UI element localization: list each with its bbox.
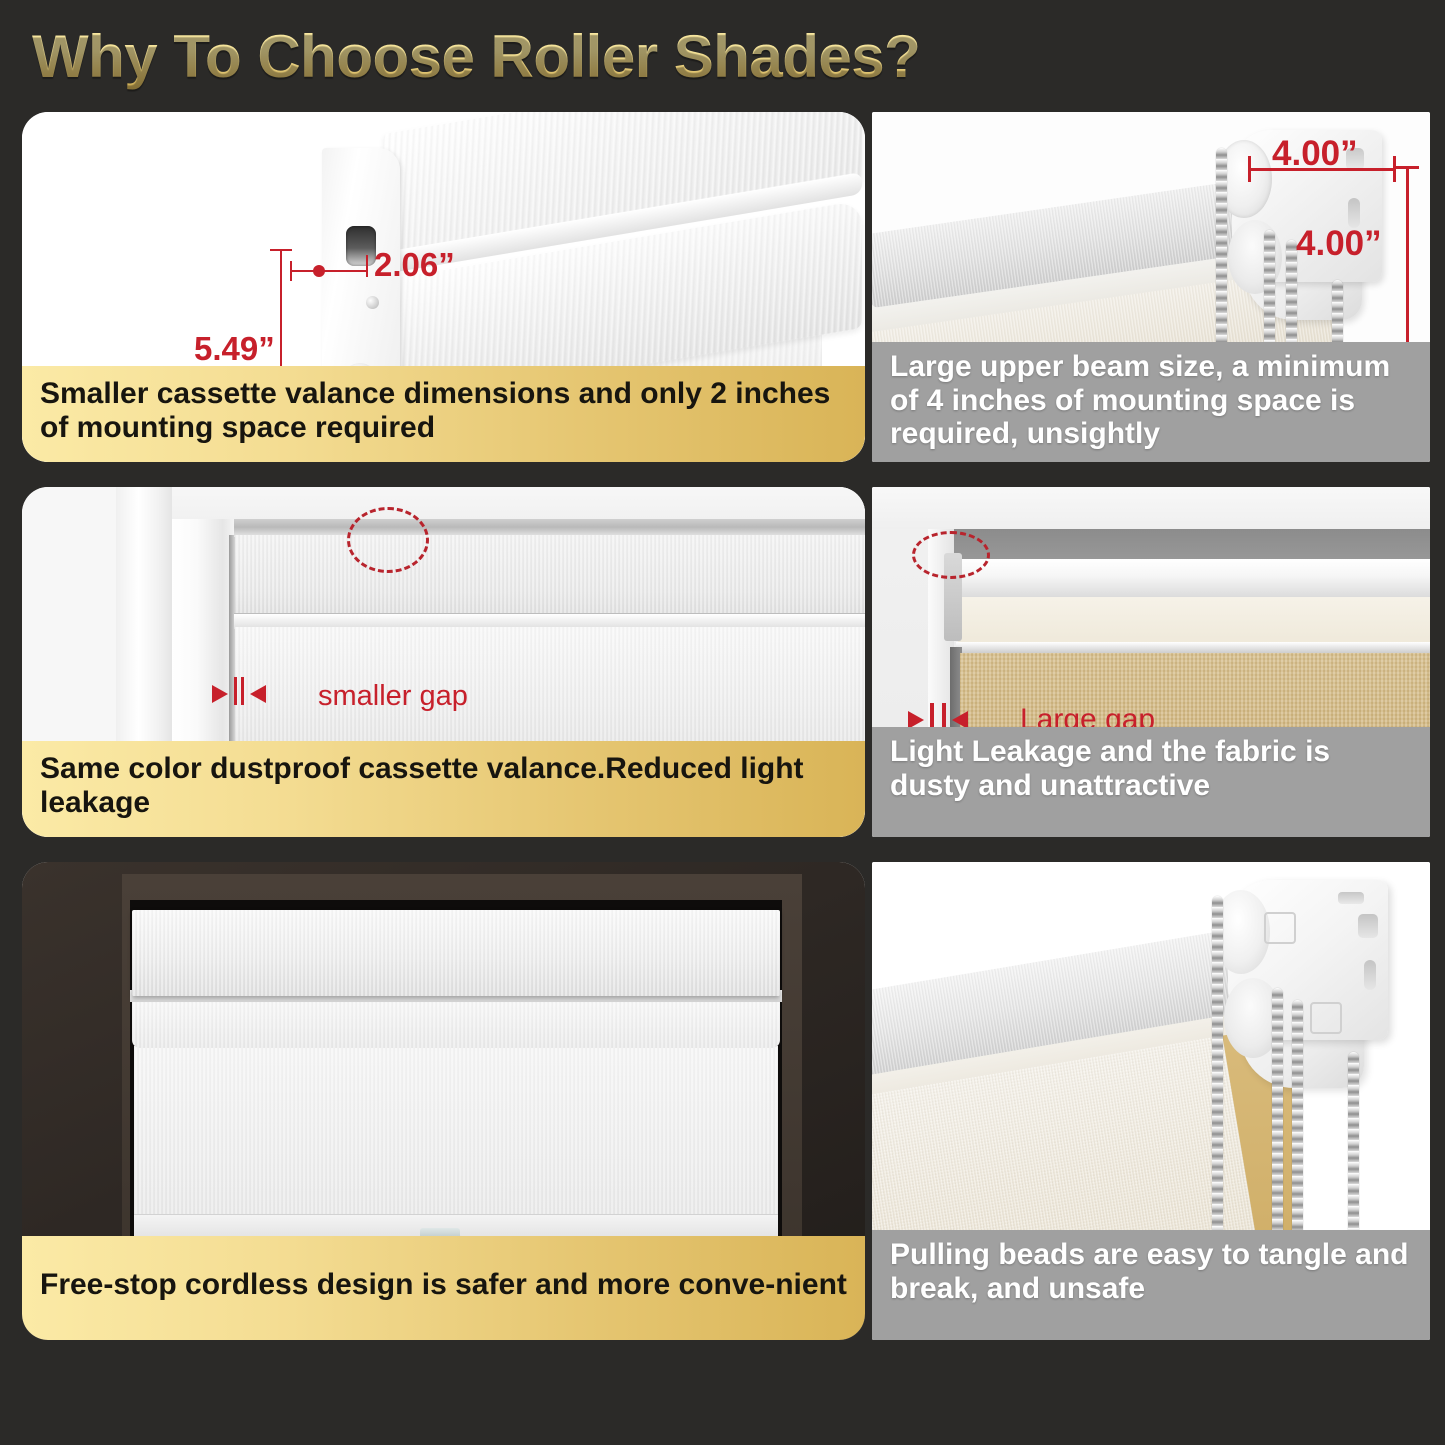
shade-roll <box>132 1000 780 1048</box>
infographic-page: Why To Choose Roller Shades? <box>0 0 1445 1445</box>
width-dimension-label: 2.06” <box>374 246 455 284</box>
cassette-valance <box>132 910 780 996</box>
bracket-slot-3 <box>1364 960 1376 990</box>
width-dimension-cap-right <box>1393 156 1396 182</box>
panel-smaller-gap: smaller gap Same color dustproof cassett… <box>22 487 865 837</box>
bead-chain-1 <box>1216 148 1227 352</box>
highlight-circle-icon <box>912 531 990 579</box>
ceiling <box>872 487 1430 529</box>
gap-label: smaller gap <box>318 680 468 713</box>
panel-caption-text: Same color dustproof cassette valance.Re… <box>40 752 847 819</box>
shade-band-upper <box>235 535 865 615</box>
panel-caption-text: Smaller cassette valance dimensions and … <box>40 377 847 444</box>
gap-tick-right <box>241 677 244 705</box>
bracket-emboss-icon <box>1310 1002 1342 1034</box>
head-rail <box>954 559 1430 601</box>
highlight-circle-icon <box>347 507 429 573</box>
width-dimension-dot <box>313 265 325 277</box>
panel-caption: Light Leakage and the fabric is dusty an… <box>872 727 1430 837</box>
panel-large-beam-dimensions: 4.00” 4.00” Large upper beam size, a min… <box>872 112 1430 462</box>
page-title: Why To Choose Roller Shades? <box>32 22 920 91</box>
height-dimension-label: 4.00” <box>1296 224 1382 264</box>
bead-chain-2 <box>1264 230 1275 352</box>
panel-caption: Smaller cassette valance dimensions and … <box>22 366 865 462</box>
title-bar: Why To Choose Roller Shades? <box>0 0 1445 104</box>
gap-arrow-right-icon <box>212 685 228 703</box>
width-dimension-line <box>290 270 368 272</box>
panel-caption-text: Pulling beads are easy to tangle and bre… <box>890 1238 1412 1305</box>
shade-fabric <box>134 1046 778 1236</box>
panel-caption-text: Light Leakage and the fabric is dusty an… <box>890 735 1412 802</box>
panel-caption: Large upper beam size, a minimum of 4 in… <box>872 342 1430 462</box>
bracket-emboss-icon <box>1264 912 1296 944</box>
width-dimension-label: 4.00” <box>1272 134 1358 174</box>
panel-caption: Pulling beads are easy to tangle and bre… <box>872 1230 1430 1340</box>
panel-cassette-dimensions: 2.06” 5.49” Smaller cassette valance dim… <box>22 112 865 462</box>
window-head <box>172 487 865 519</box>
panel-caption: Same color dustproof cassette valance.Re… <box>22 741 865 837</box>
panel-cordless-design: Free-stop cordless design is safer and m… <box>22 862 865 1340</box>
width-dimension-cap-right <box>366 255 368 277</box>
height-dimension-cap-top <box>270 249 292 251</box>
height-dimension-line <box>1406 166 1409 346</box>
panel-caption: Free-stop cordless design is safer and m… <box>22 1236 865 1340</box>
panel-caption-text: Large upper beam size, a minimum of 4 in… <box>890 350 1412 451</box>
height-dimension-cap-top <box>1396 166 1419 169</box>
shade-cream-band <box>958 597 1430 645</box>
bracket-slot-1 <box>1338 892 1364 904</box>
valance-screw <box>366 296 379 309</box>
height-dimension-label: 5.49” <box>194 330 275 368</box>
panel-large-gap: Large gap Light Leakage and the fabric i… <box>872 487 1430 837</box>
width-dimension-cap-left <box>290 261 292 281</box>
valance-slot <box>346 226 376 266</box>
gap-tick-left <box>234 677 237 705</box>
bracket-slot-2 <box>1358 914 1378 938</box>
width-dimension-cap-left <box>1248 156 1251 182</box>
panel-caption-text: Free-stop cordless design is safer and m… <box>40 1268 847 1302</box>
gap-arrow-left-icon <box>250 685 266 703</box>
panel-pulling-beads: Pulling beads are easy to tangle and bre… <box>872 862 1430 1340</box>
